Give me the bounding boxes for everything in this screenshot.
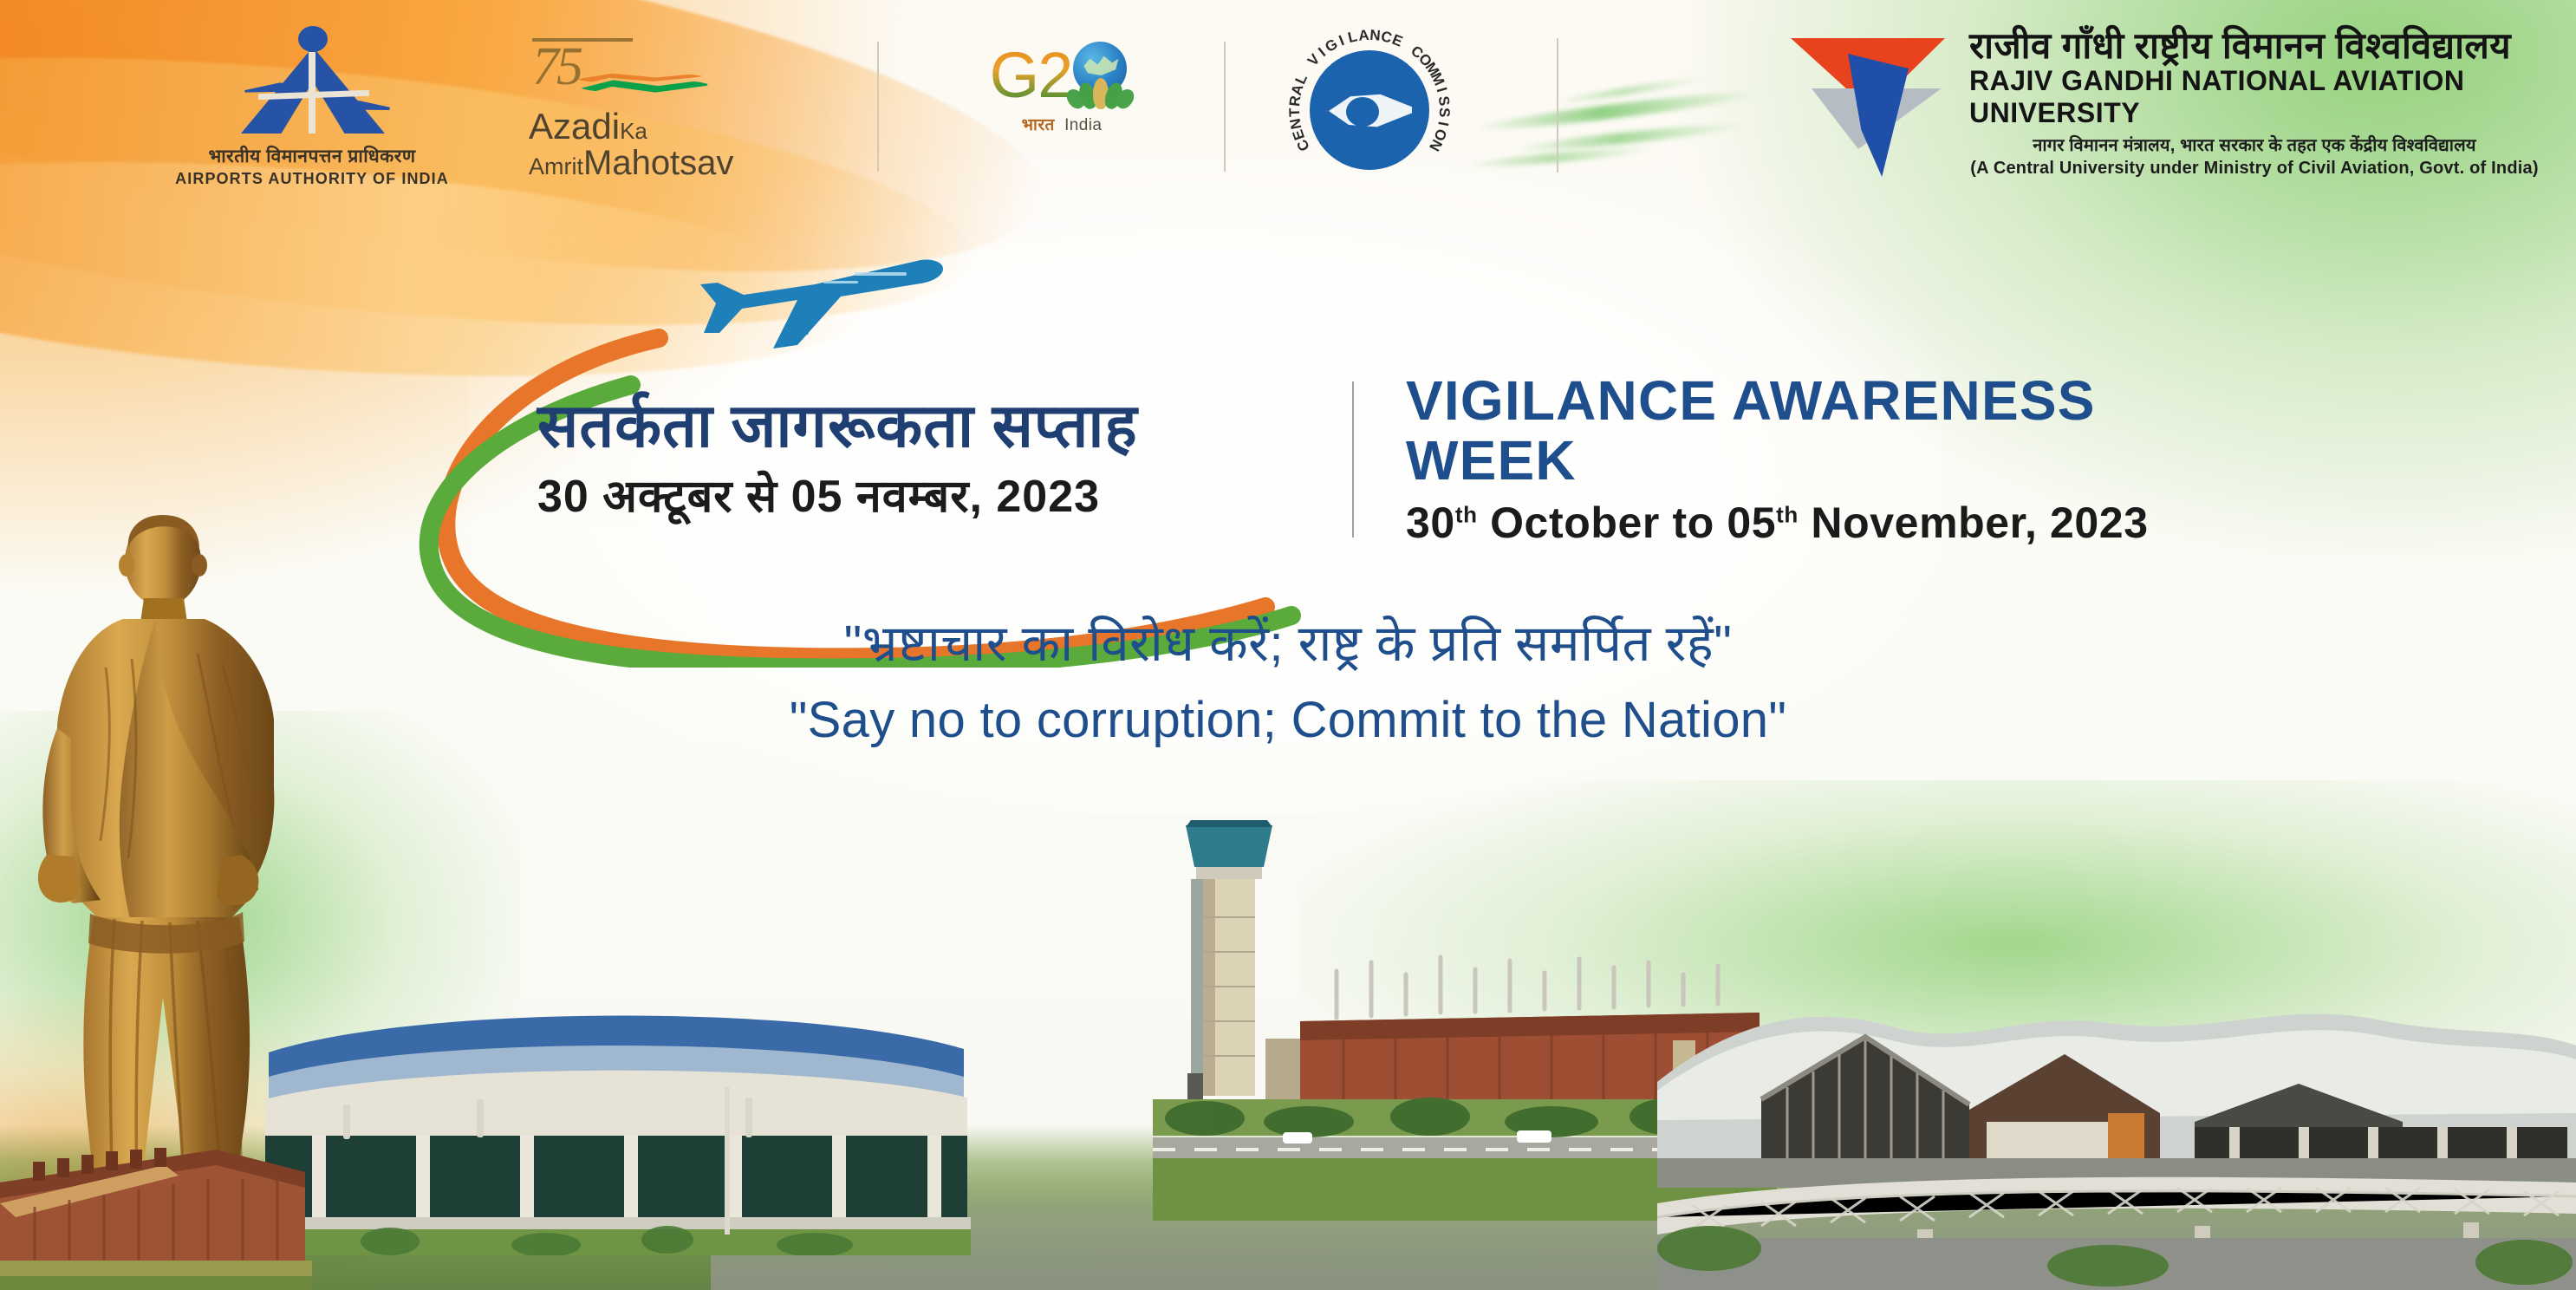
logo-bar: भारतीय विमानपत्तन प्राधिकरण AIRPORTS AUT… [0,0,2576,217]
logo-divider-2 [1224,42,1226,172]
aai-english-label: AIRPORTS AUTHORITY OF INDIA [175,170,449,188]
g20-subtitle: भारत India [1022,113,1103,135]
azadi-number: 75 [532,36,581,98]
azadi-75-icon: 75 [529,28,789,114]
title-block: सतर्कता जागरूकता सप्ताह 30 अक्टूबर से 05… [537,364,2228,555]
central-vigilance-commission-logo: CENTRALVIGILANCECOMMISSION [1257,19,1482,201]
airport-terminal-blue-roof-image [260,969,971,1255]
photo-strip [0,805,2576,1290]
slogan-hindi: "भ्रष्टाचार का विरोध करें; राष्ट्र के प्… [0,607,2576,675]
rgnau-hindi-title: राजीव गाँधी राष्ट्रीय विमानन विश्वविद्या… [1969,26,2540,65]
title-divider [1352,381,1354,537]
title-hindi: सतर्कता जागरूकता सप्ताह 30 अक्टूबर से 05… [537,394,1300,526]
logo-divider-3 [1557,38,1558,173]
rgnau-emblem-icon [1786,24,1950,180]
azadi-line2: AmritMahotsav [529,146,733,180]
aai-logo: भारतीय विमानपत्तन प्राधिकरण AIRPORTS AUT… [147,26,477,188]
slogan-english: "Say no to corruption; Commit to the Nat… [0,691,2576,749]
aai-emblem-icon [225,26,399,139]
g20-wordmark: G2 [990,43,1072,107]
title-english: VIGILANCE AWARENESS WEEK 30th October to… [1406,371,2221,548]
azadi-tricolour-swoosh-icon [576,71,714,94]
g20-logo: G2 भारत India [945,42,1179,135]
brick-boundary-structure-image [0,1099,312,1290]
azadi-ka-amrit-mahotsav-logo: 75 AzadiKa AmritMahotsav [529,28,815,180]
hindi-dates: 30 अक्टूबर से 05 नवम्बर, 2023 [537,464,1300,525]
slogan-block: "भ्रष्टाचार का विरोध करें; राष्ट्र के प्… [0,607,2576,749]
rgnau-text-block: राजीव गाँधी राष्ट्रीय विमानन विश्वविद्या… [1969,26,2540,179]
english-heading: VIGILANCE AWARENESS WEEK [1406,371,2221,491]
rgnau-english-title: RAJIV GANDHI NATIONAL AVIATION UNIVERSIT… [1969,65,2540,129]
g20-globe-lotus-icon [1066,42,1134,109]
rgnau-logo: राजीव गाँधी राष्ट्रीय विमानन विश्वविद्या… [1786,24,2540,180]
aai-hindi-label: भारतीय विमानपत्तन प्राधिकरण [208,144,415,168]
rgnau-english-subtitle: (A Central University under Ministry of … [1969,159,2540,179]
hindi-heading: सतर्कता जागरूकता सप्ताह [537,394,1300,459]
cvc-emblem-icon: CENTRALVIGILANCECOMMISSION [1278,19,1460,201]
g20-wordmark-row: G2 [990,42,1135,109]
vigilance-awareness-week-banner: भारतीय विमानपत्तन प्राधिकरण AIRPORTS AUT… [0,0,2576,1290]
rgnau-hindi-subtitle: नागर विमानन मंत्रालय, भारत सरकार के तहत … [1969,133,2540,156]
modern-terminal-wave-roof-image [1657,943,2576,1290]
english-dates: 30th October to 05th November, 2023 [1406,498,2221,548]
logo-divider-1 [877,42,879,172]
